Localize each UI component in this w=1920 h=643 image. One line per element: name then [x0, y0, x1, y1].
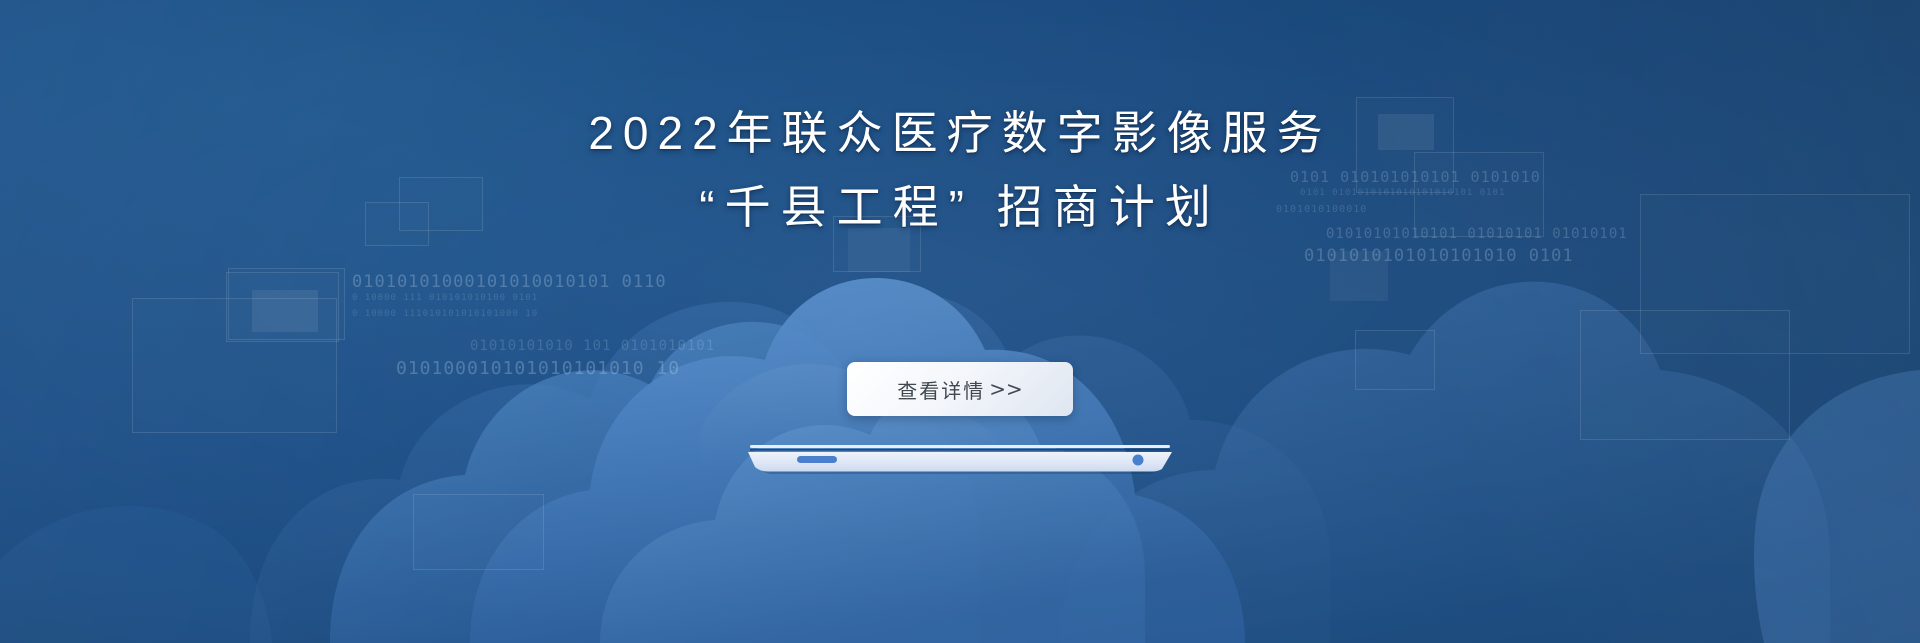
- device-dot-accent: [1133, 455, 1144, 466]
- headline-line-1: 2022年联众医疗数字影像服务: [0, 96, 1920, 170]
- binary-string-3: 0 10000 111010101010101000 10: [352, 309, 538, 319]
- rect-right-fill-b: [1330, 251, 1388, 301]
- binary-string-4: 01010101010 101 0101010101: [470, 338, 715, 354]
- view-details-button[interactable]: 查看详情 >>: [847, 362, 1073, 416]
- promo-banner: 01010101000101010010101 01100 10000 111 …: [0, 0, 1920, 643]
- rect-left-fill: [252, 290, 318, 332]
- rect-left-outline-c: [226, 272, 339, 342]
- cta-label: 查看详情: [897, 375, 985, 404]
- binary-string-2: 0 10000 111 010101010100 0101: [352, 293, 538, 303]
- headline: 2022年联众医疗数字影像服务 “千县工程” 招商计划: [0, 96, 1920, 244]
- rect-left-outline-b: [228, 268, 345, 340]
- cta-container: 查看详情 >>: [0, 362, 1920, 416]
- binary-string-1: 01010101000101010010101 0110: [352, 272, 667, 292]
- laptop-base-illustration: [748, 443, 1172, 475]
- rect-left-low: [413, 494, 544, 570]
- device-pill-accent: [797, 456, 837, 463]
- double-chevron-right-icon: >>: [989, 377, 1023, 401]
- headline-line-2: “千县工程” 招商计划: [0, 170, 1920, 244]
- binary-string-10: 0101010101010101010 0101: [1304, 246, 1574, 266]
